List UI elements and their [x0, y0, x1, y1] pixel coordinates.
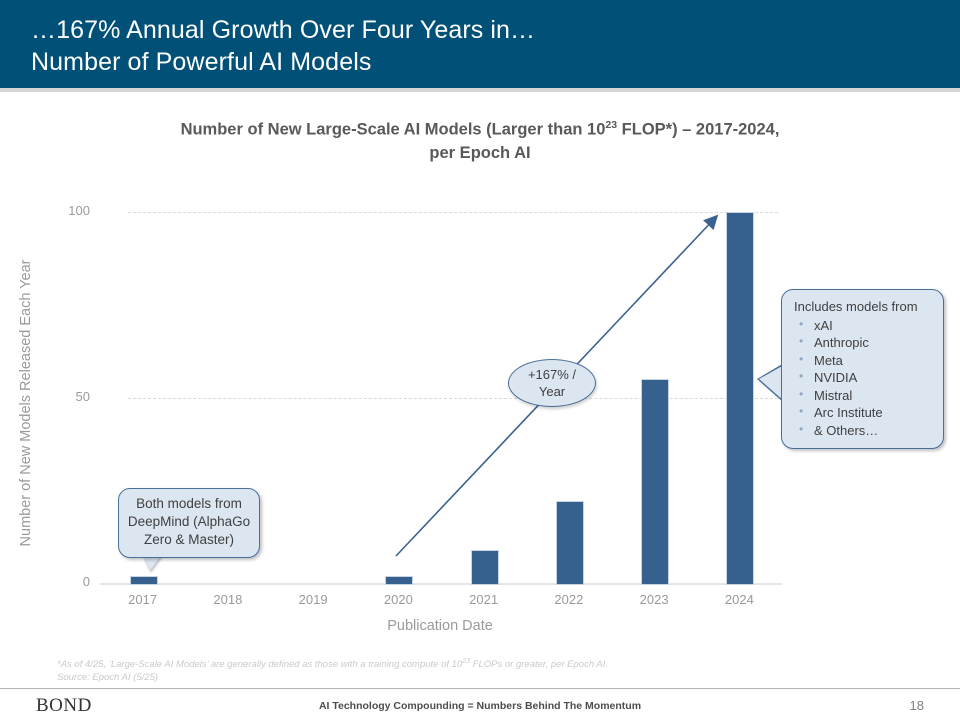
- chart-title-line2: per Epoch AI: [429, 144, 530, 162]
- chart-title-part1: Number of New Large-Scale AI Models (Lar…: [181, 121, 606, 139]
- gridline-50: [128, 398, 778, 399]
- header-title-line2: Number of Powerful AI Models: [31, 48, 371, 77]
- footnote-source: Source: Epoch AI (5/25): [57, 672, 158, 683]
- x-axis-title: Publication Date: [95, 618, 785, 634]
- includes-callout-list: xAIAnthropicMetaNVIDIAMistralArc Institu…: [792, 317, 939, 440]
- chart-title: Number of New Large-Scale AI Models (Lar…: [80, 114, 880, 165]
- deepmind-callout-line3: Zero & Master): [119, 531, 259, 549]
- chart-title-exponent: 23: [605, 119, 617, 131]
- footnote: *As of 4/25, ‘Large-Scale AI Models’ are…: [57, 655, 608, 684]
- includes-callout-item: Anthropic: [792, 334, 939, 352]
- bar-2024: [726, 212, 754, 585]
- growth-rate-line1: +167% /: [509, 366, 595, 383]
- page-number: 18: [910, 698, 924, 713]
- x-axis-tick-2023: 2023: [612, 592, 696, 607]
- includes-callout-item: Meta: [792, 352, 939, 370]
- gridline-100: [128, 212, 778, 213]
- deepmind-callout-line2: DeepMind (AlphaGo: [119, 513, 259, 531]
- x-axis-tick-2019: 2019: [271, 592, 355, 607]
- header-band: …167% Annual Growth Over Four Years in… …: [0, 0, 960, 88]
- includes-models-callout: Includes models from xAIAnthropicMetaNVI…: [781, 289, 944, 449]
- includes-callout-heading: Includes models from: [794, 298, 939, 316]
- chart-title-part2: FLOP*) – 2017-2024,: [617, 121, 779, 139]
- footnote-exponent: 23: [462, 658, 470, 665]
- bar-2022: [556, 501, 584, 585]
- x-axis-baseline: [100, 583, 782, 585]
- footnote-line1b: FLOPs or greater, per Epoch AI.: [470, 659, 608, 670]
- bar-2017: [130, 576, 158, 585]
- y-axis-tick-50: 50: [48, 389, 90, 404]
- footnote-line1a: *As of 4/25, ‘Large-Scale AI Models’ are…: [57, 659, 462, 670]
- y-axis-tick-0: 0: [48, 574, 90, 589]
- bar-2021: [471, 550, 499, 585]
- x-axis-tick-2022: 2022: [527, 592, 611, 607]
- footer-center-text: AI Technology Compounding = Numbers Behi…: [0, 700, 960, 712]
- y-axis-tick-100: 100: [48, 203, 90, 218]
- includes-callout-item: & Others…: [792, 422, 939, 440]
- x-axis-tick-2020: 2020: [356, 592, 440, 607]
- deepmind-callout: Both models from DeepMind (AlphaGo Zero …: [118, 488, 260, 558]
- bar-2020: [385, 576, 413, 585]
- includes-callout-item: Arc Institute: [792, 404, 939, 422]
- header-divider: [0, 88, 960, 92]
- y-axis-title: Number of New Models Released Each Year: [18, 238, 34, 568]
- x-axis-tick-2024: 2024: [697, 592, 781, 607]
- includes-callout-item: xAI: [792, 317, 939, 335]
- x-axis-tick-2017: 2017: [101, 592, 185, 607]
- includes-callout-item: NVIDIA: [792, 369, 939, 387]
- x-axis-tick-2018: 2018: [186, 592, 270, 607]
- header-title-line1: …167% Annual Growth Over Four Years in…: [31, 16, 535, 45]
- bar-2023: [641, 379, 669, 585]
- growth-rate-callout: +167% / Year: [508, 359, 596, 407]
- includes-callout-item: Mistral: [792, 387, 939, 405]
- footer-divider: [0, 688, 960, 689]
- growth-rate-line2: Year: [509, 383, 595, 400]
- x-axis-tick-2021: 2021: [442, 592, 526, 607]
- deepmind-callout-line1: Both models from: [119, 495, 259, 513]
